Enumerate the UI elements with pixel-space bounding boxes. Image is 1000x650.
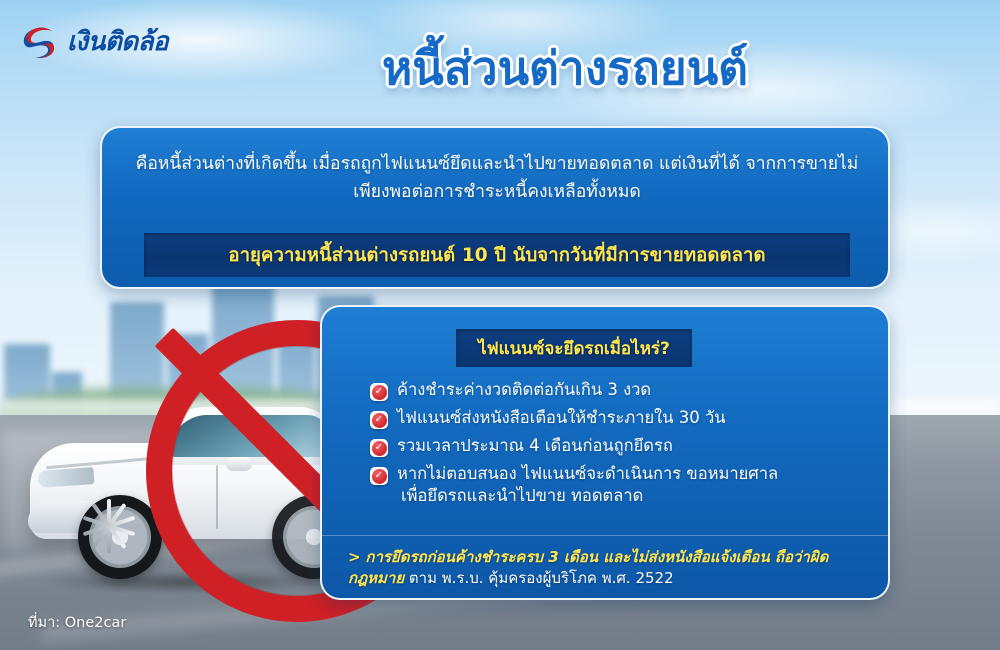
list-item-label: หากไม่ตอบสนอง ไฟแนนซ์จะดำเนินการ ขอหมายศ… [397, 463, 778, 507]
source-credit: ที่มา: One2car [28, 611, 126, 634]
definition-text: คือหนี้ส่วนต่างที่เกิดขึ้น เมื่อรถถูกไฟแ… [132, 150, 862, 207]
repossession-panel: ไฟแนนซ์จะยึดรถเมื่อไหร่? ✓ ค้างชำระค่างว… [320, 305, 890, 600]
question-heading-bar: ไฟแนนซ์จะยึดรถเมื่อไหร่? [456, 329, 692, 367]
page-title: หนี้ส่วนต่างรถยนต์ [0, 44, 1000, 92]
panel-divider [322, 535, 888, 536]
infographic-canvas: เงินติดล้อ หนี้ส่วนต่างรถยนต์ คือหนี้ส่ว… [0, 0, 1000, 650]
legal-footnote: > การยึดรถก่อนค้างชำระครบ 3 เดือน และไม่… [348, 547, 868, 590]
footnote-arrow: > [348, 548, 361, 566]
list-item-line1: หากไม่ตอบสนอง ไฟแนนซ์จะดำเนินการ ขอหมายศ… [397, 464, 778, 483]
check-circle-icon: ✓ [370, 411, 388, 429]
list-item-label: ไฟแนนซ์ส่งหนังสือเตือนให้ชำระภายใน 30 วั… [397, 407, 726, 429]
list-item-label: ค้างชำระค่างวดติดต่อกันเกิน 3 งวด [397, 379, 651, 401]
check-circle-icon: ✓ [370, 439, 388, 457]
footnote-plain: ตาม พ.ร.บ. คุ้มครองผู้บริโภค พ.ศ. 2522 [409, 569, 674, 587]
statute-highlight-text: อายุความหนี้ส่วนต่างรถยนต์ 10 ปี นับจากว… [228, 241, 765, 270]
question-heading-text: ไฟแนนซ์จะยึดรถเมื่อไหร่? [478, 335, 670, 362]
statute-highlight-bar: อายุความหนี้ส่วนต่างรถยนต์ 10 ปี นับจากว… [144, 233, 850, 277]
list-item: ✓ รวมเวลาประมาณ 4 เดือนก่อนถูกยึดรถ [370, 435, 870, 457]
list-item-label: รวมเวลาประมาณ 4 เดือนก่อนถูกยึดรถ [397, 435, 673, 457]
list-item: ✓ หากไม่ตอบสนอง ไฟแนนซ์จะดำเนินการ ขอหมา… [370, 463, 870, 507]
list-item: ✓ ไฟแนนซ์ส่งหนังสือเตือนให้ชำระภายใน 30 … [370, 407, 870, 429]
check-circle-icon: ✓ [370, 467, 388, 485]
definition-panel: คือหนี้ส่วนต่างที่เกิดขึ้น เมื่อรถถูกไฟแ… [100, 126, 890, 289]
check-circle-icon: ✓ [370, 383, 388, 401]
list-item: ✓ ค้างชำระค่างวดติดต่อกันเกิน 3 งวด [370, 379, 870, 401]
list-item-line2: เพื่อยึดรถและนำไปขาย ทอดตลาด [397, 485, 778, 507]
bullet-list: ✓ ค้างชำระค่างวดติดต่อกันเกิน 3 งวด ✓ ไฟ… [370, 379, 870, 513]
